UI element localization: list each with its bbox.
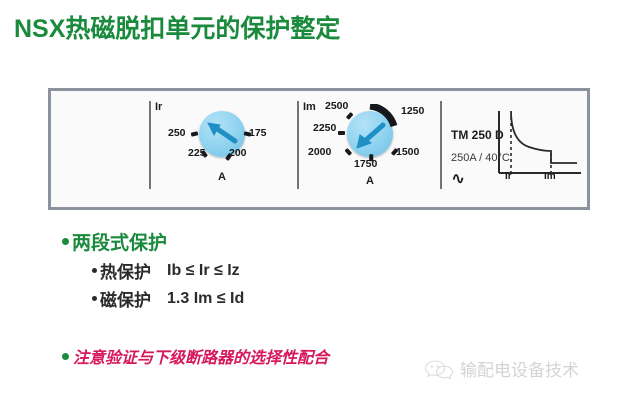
thermal-dial-value: 250 [168, 127, 186, 139]
trip-curve-label-ir: Ir [505, 171, 512, 182]
dial-tick [191, 131, 199, 136]
bullet-dot-icon [62, 353, 69, 360]
magnetic-dial-value: 2250 [313, 122, 336, 134]
trip-curve-label-im: Im [544, 171, 556, 182]
magnetic-dial-axis-label: Im [303, 101, 316, 113]
magnetic-dial-pointer [347, 111, 393, 157]
bullet-note-label: 注意验证与下级断路器的选择性配合 [73, 344, 329, 368]
panel-divider [149, 101, 151, 189]
dial-tick [338, 131, 345, 135]
watermark: 输配电设备技术 [424, 356, 579, 381]
bullet-thermal-protection: 热保护 Ib ≤ Ir ≤ Iz [92, 258, 240, 283]
panel-divider [440, 101, 442, 189]
magnetic-dial-value: 1750 [354, 158, 377, 170]
wechat-icon [424, 357, 454, 381]
trip-curve-graph: Ir Im [491, 109, 587, 188]
ac-sine-icon: ∿ [451, 169, 465, 189]
bullet-selectivity-note: 注意验证与下级断路器的选择性配合 [62, 344, 329, 368]
bullet-thermal-label: 热保护 [100, 258, 151, 283]
bullet-magnetic-label: 磁保护 [100, 286, 151, 311]
watermark-text: 输配电设备技术 [460, 356, 579, 381]
bullet-magnetic-formula: 1.3 Im ≤ Id [167, 290, 244, 308]
magnetic-dial-value: 2000 [308, 146, 331, 158]
magnetic-dial-value: 1250 [401, 105, 424, 117]
bullet-dot-icon [92, 296, 97, 301]
magnetic-dial[interactable] [347, 111, 393, 157]
device-diagram-panel: Ir 250 225 200 175 A Im [48, 88, 590, 210]
magnetic-dial-value: 2500 [325, 100, 348, 112]
panel-divider [297, 101, 299, 189]
bullet-main-label: 两段式保护 [72, 228, 167, 255]
thermal-dial-axis-label: Ir [155, 101, 162, 113]
page-title: NSX热磁脱扣单元的保护整定 [14, 9, 340, 45]
bullet-dot-icon [62, 238, 69, 245]
thermal-dial-value: 200 [229, 147, 247, 159]
magnetic-dial-unit: A [366, 175, 374, 187]
thermal-dial-unit: A [218, 171, 226, 183]
magnetic-dial-value: 1500 [396, 146, 419, 158]
bullet-two-stage-protection: 两段式保护 [62, 228, 167, 255]
thermal-dial-value: 175 [249, 127, 267, 139]
bullet-magnetic-protection: 磁保护 1.3 Im ≤ Id [92, 286, 244, 311]
thermal-dial-value: 225 [188, 147, 206, 159]
bullet-thermal-formula: Ib ≤ Ir ≤ Iz [167, 262, 240, 280]
bullet-dot-icon [92, 268, 97, 273]
